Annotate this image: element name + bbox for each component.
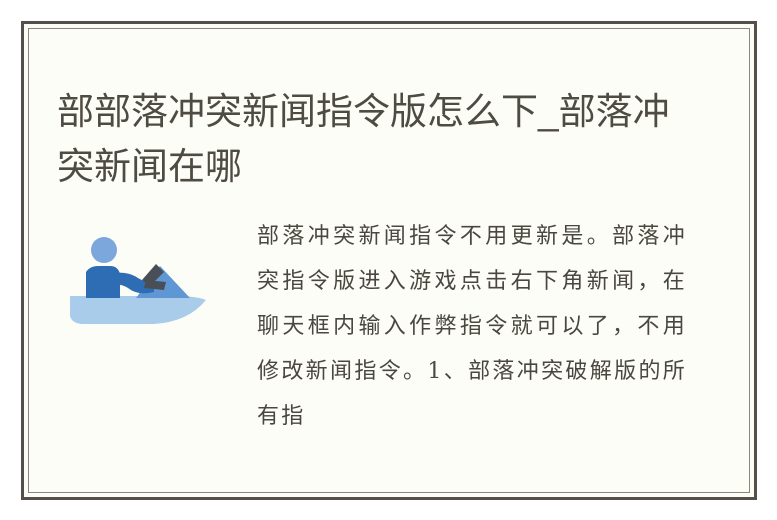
article-card: 部部落冲突新闻指令版怎么下_部落冲突新闻在哪 部落冲突新闻指令 (21, 21, 757, 500)
article-content: 部落冲突新闻指令不用更新是。部落冲突指令版进入游戏点击右下角新闻，在聊天框内输入… (57, 214, 734, 477)
jet-ski-rider-illustration (68, 236, 208, 331)
page-title: 部部落冲突新闻指令版怎么下_部落冲突新闻在哪 (57, 84, 677, 194)
head-shape (91, 237, 117, 263)
article-body: 部落冲突新闻指令不用更新是。部落冲突指令版进入游戏点击右下角新闻，在聊天框内输入… (257, 214, 687, 439)
